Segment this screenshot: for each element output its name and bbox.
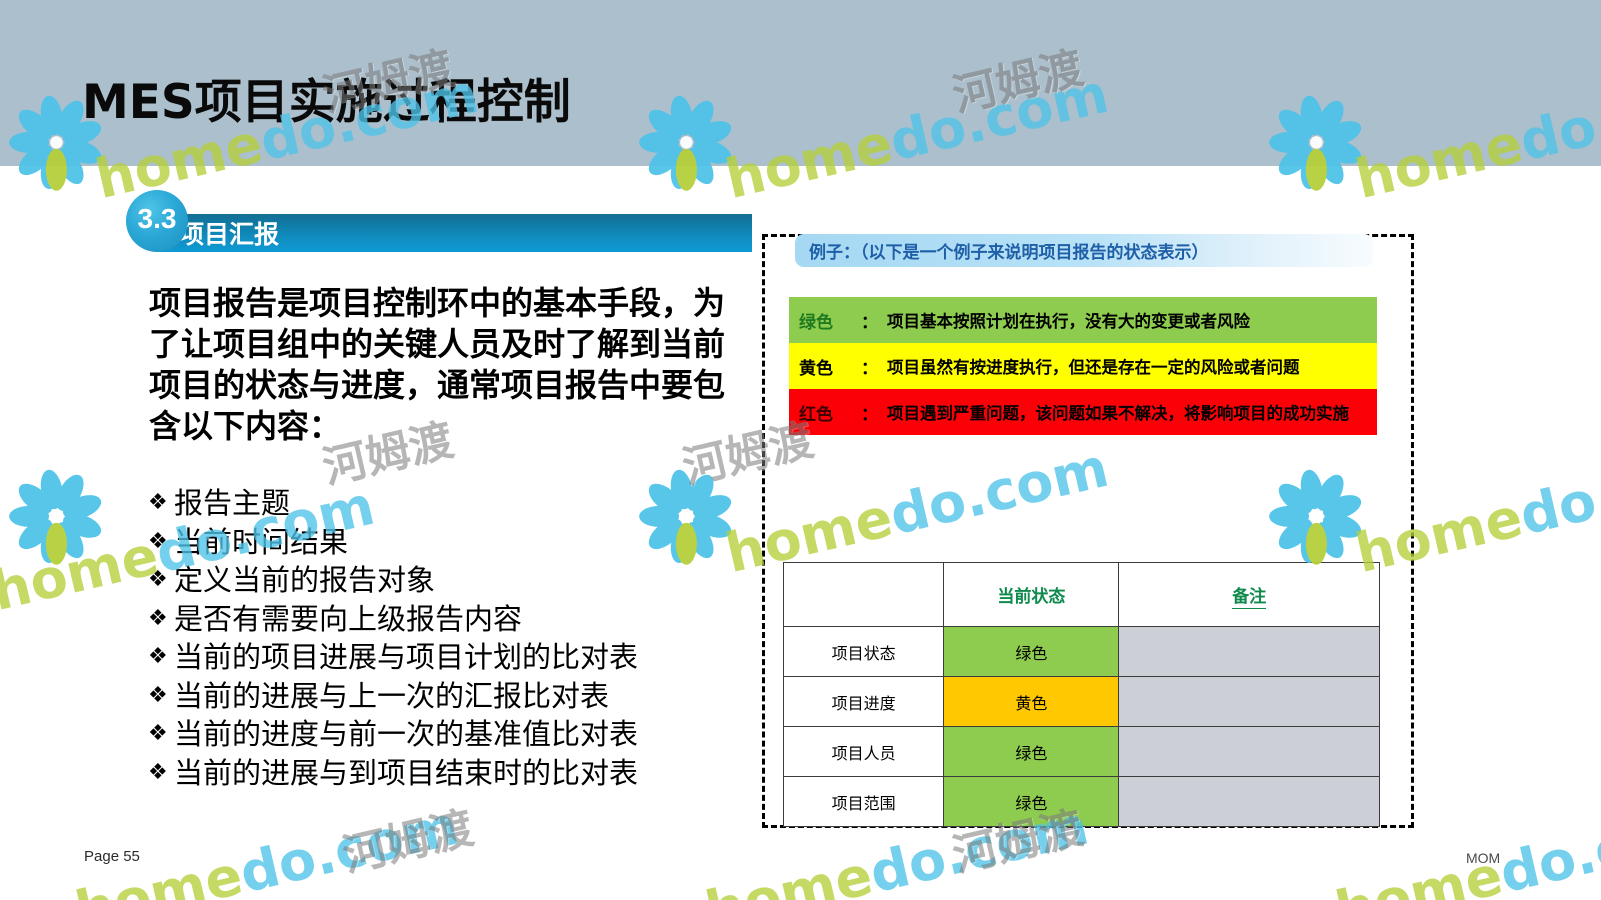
status-legend-bar: 红色：项目遇到严重问题，该问题如果不解决，将影响项目的成功实施: [789, 389, 1377, 435]
bullet-diamond-icon: ❖: [148, 523, 174, 562]
table-cell-label: 项目人员: [784, 727, 944, 777]
bullet-diamond-icon: ❖: [148, 561, 174, 600]
status-legend-description: 项目基本按照计划在执行，没有大的变更或者风险: [887, 308, 1250, 332]
table-cell-note: [1119, 777, 1380, 827]
example-callout: 例子：（以下是一个例子来说明项目报告的状态表示）: [795, 234, 1373, 267]
watermark-text: homedo.com: [714, 880, 1104, 900]
list-item: ❖是否有需要向上级报告内容: [148, 600, 768, 639]
watermark-word: do.com: [1494, 794, 1601, 900]
flower-logo-icon: [6, 466, 107, 567]
section-heading-label: 项目汇报: [179, 215, 279, 251]
bullet-diamond-icon: ❖: [148, 484, 174, 523]
status-table-header-row: 当前状态 备注: [784, 563, 1380, 627]
status-legend-bar: 绿色：项目基本按照计划在执行，没有大的变更或者风险: [789, 297, 1377, 343]
list-item: ❖当前的进度与前一次的基准值比对表: [148, 715, 768, 754]
status-table-body: 项目状态绿色项目进度黄色项目人员绿色项目范围绿色: [784, 627, 1380, 827]
table-row: 项目范围绿色: [784, 777, 1380, 827]
page-number: Page 55: [84, 848, 140, 865]
watermark-word: do.com: [1514, 436, 1601, 547]
watermark-word: home: [700, 844, 878, 900]
table-cell-label: 项目范围: [784, 777, 944, 827]
list-item: ❖当前时间结果: [148, 523, 768, 562]
list-item-label: 定义当前的报告对象: [174, 561, 435, 600]
table-cell-label: 项目进度: [784, 677, 944, 727]
watermark-word: home: [0, 524, 164, 623]
page-title: MES项目实施过程控制: [82, 63, 571, 132]
status-legend-name: 黄色: [799, 354, 861, 379]
table-cell-note: [1119, 727, 1380, 777]
status-legend-colon: ：: [861, 308, 887, 333]
bullet-diamond-icon: ❖: [148, 600, 174, 639]
list-item-label: 当前的项目进展与项目计划的比对表: [174, 638, 638, 677]
list-item: ❖当前的进展与到项目结束时的比对表: [148, 754, 768, 793]
list-item-label: 当前时间结果: [174, 523, 348, 562]
bullet-diamond-icon: ❖: [148, 638, 174, 677]
table-cell-note: [1119, 677, 1380, 727]
section-heading-bar: 项目汇报: [155, 214, 752, 252]
lead-paragraph: 项目报告是项目控制环中的基本手段，为了让项目组中的关键人员及时了解到当前项目的状…: [149, 283, 749, 447]
table-header-note: 备注: [1119, 563, 1380, 627]
list-item-label: 是否有需要向上级报告内容: [174, 600, 522, 639]
list-item-label: 当前的进展与到项目结束时的比对表: [174, 754, 638, 793]
corner-tag: MOM: [1466, 850, 1500, 866]
section-number-badge: 3.3: [126, 190, 188, 252]
table-cell-status: 绿色: [944, 627, 1119, 677]
table-cell-status: 绿色: [944, 727, 1119, 777]
watermark-text: homedo.com: [1344, 880, 1601, 900]
status-legend-name: 绿色: [799, 308, 861, 333]
watermark-chinese: 河姆渡: [960, 820, 1092, 884]
table-row: 项目进度黄色: [784, 677, 1380, 727]
list-item: ❖当前的进展与上一次的汇报比对表: [148, 677, 768, 716]
list-item-label: 当前的进展与上一次的汇报比对表: [174, 677, 609, 716]
status-legend-name: 红色: [799, 400, 861, 425]
status-legend-colon: ：: [861, 400, 887, 425]
list-item-label: 报告主题: [174, 484, 290, 523]
status-table: 当前状态 备注 项目状态绿色项目进度黄色项目人员绿色项目范围绿色: [783, 562, 1380, 827]
status-legend-colon: ：: [861, 354, 887, 379]
table-cell-status: 黄色: [944, 677, 1119, 727]
list-item: ❖当前的项目进展与项目计划的比对表: [148, 638, 768, 677]
bullet-list: ❖报告主题❖当前时间结果❖定义当前的报告对象❖是否有需要向上级报告内容❖当前的项…: [148, 484, 768, 792]
table-header-current-status: 当前状态: [944, 563, 1119, 627]
list-item: ❖定义当前的报告对象: [148, 561, 768, 600]
list-item-label: 当前的进度与前一次的基准值比对表: [174, 715, 638, 754]
table-header-blank: [784, 563, 944, 627]
example-callout-text: 例子：（以下是一个例子来说明项目报告的状态表示）: [809, 238, 1209, 263]
slide-canvas: MES项目实施过程控制 项目汇报 3.3 项目报告是项目控制环中的基本手段，为了…: [0, 0, 1601, 900]
table-row: 项目状态绿色: [784, 627, 1380, 677]
table-row: 项目人员绿色: [784, 727, 1380, 777]
status-legend-description: 项目遇到严重问题，该问题如果不解决，将影响项目的成功实施: [887, 400, 1349, 424]
table-cell-label: 项目状态: [784, 627, 944, 677]
status-legend-description: 项目虽然有按进度执行，但还是存在一定的风险或者问题: [887, 354, 1300, 378]
bullet-diamond-icon: ❖: [148, 754, 174, 793]
table-cell-note: [1119, 627, 1380, 677]
bullet-diamond-icon: ❖: [148, 677, 174, 716]
watermark-word: do.com: [234, 794, 464, 900]
list-item: ❖报告主题: [148, 484, 768, 523]
status-legend: 绿色：项目基本按照计划在执行，没有大的变更或者风险黄色：项目虽然有按进度执行，但…: [789, 297, 1377, 435]
watermark-text: homedo.com: [84, 880, 474, 900]
watermark-chinese: 河姆渡: [350, 820, 482, 884]
bullet-diamond-icon: ❖: [148, 715, 174, 754]
status-legend-bar: 黄色：项目虽然有按进度执行，但还是存在一定的风险或者问题: [789, 343, 1377, 389]
status-table-head: 当前状态 备注: [784, 563, 1380, 627]
table-cell-status: 绿色: [944, 777, 1119, 827]
